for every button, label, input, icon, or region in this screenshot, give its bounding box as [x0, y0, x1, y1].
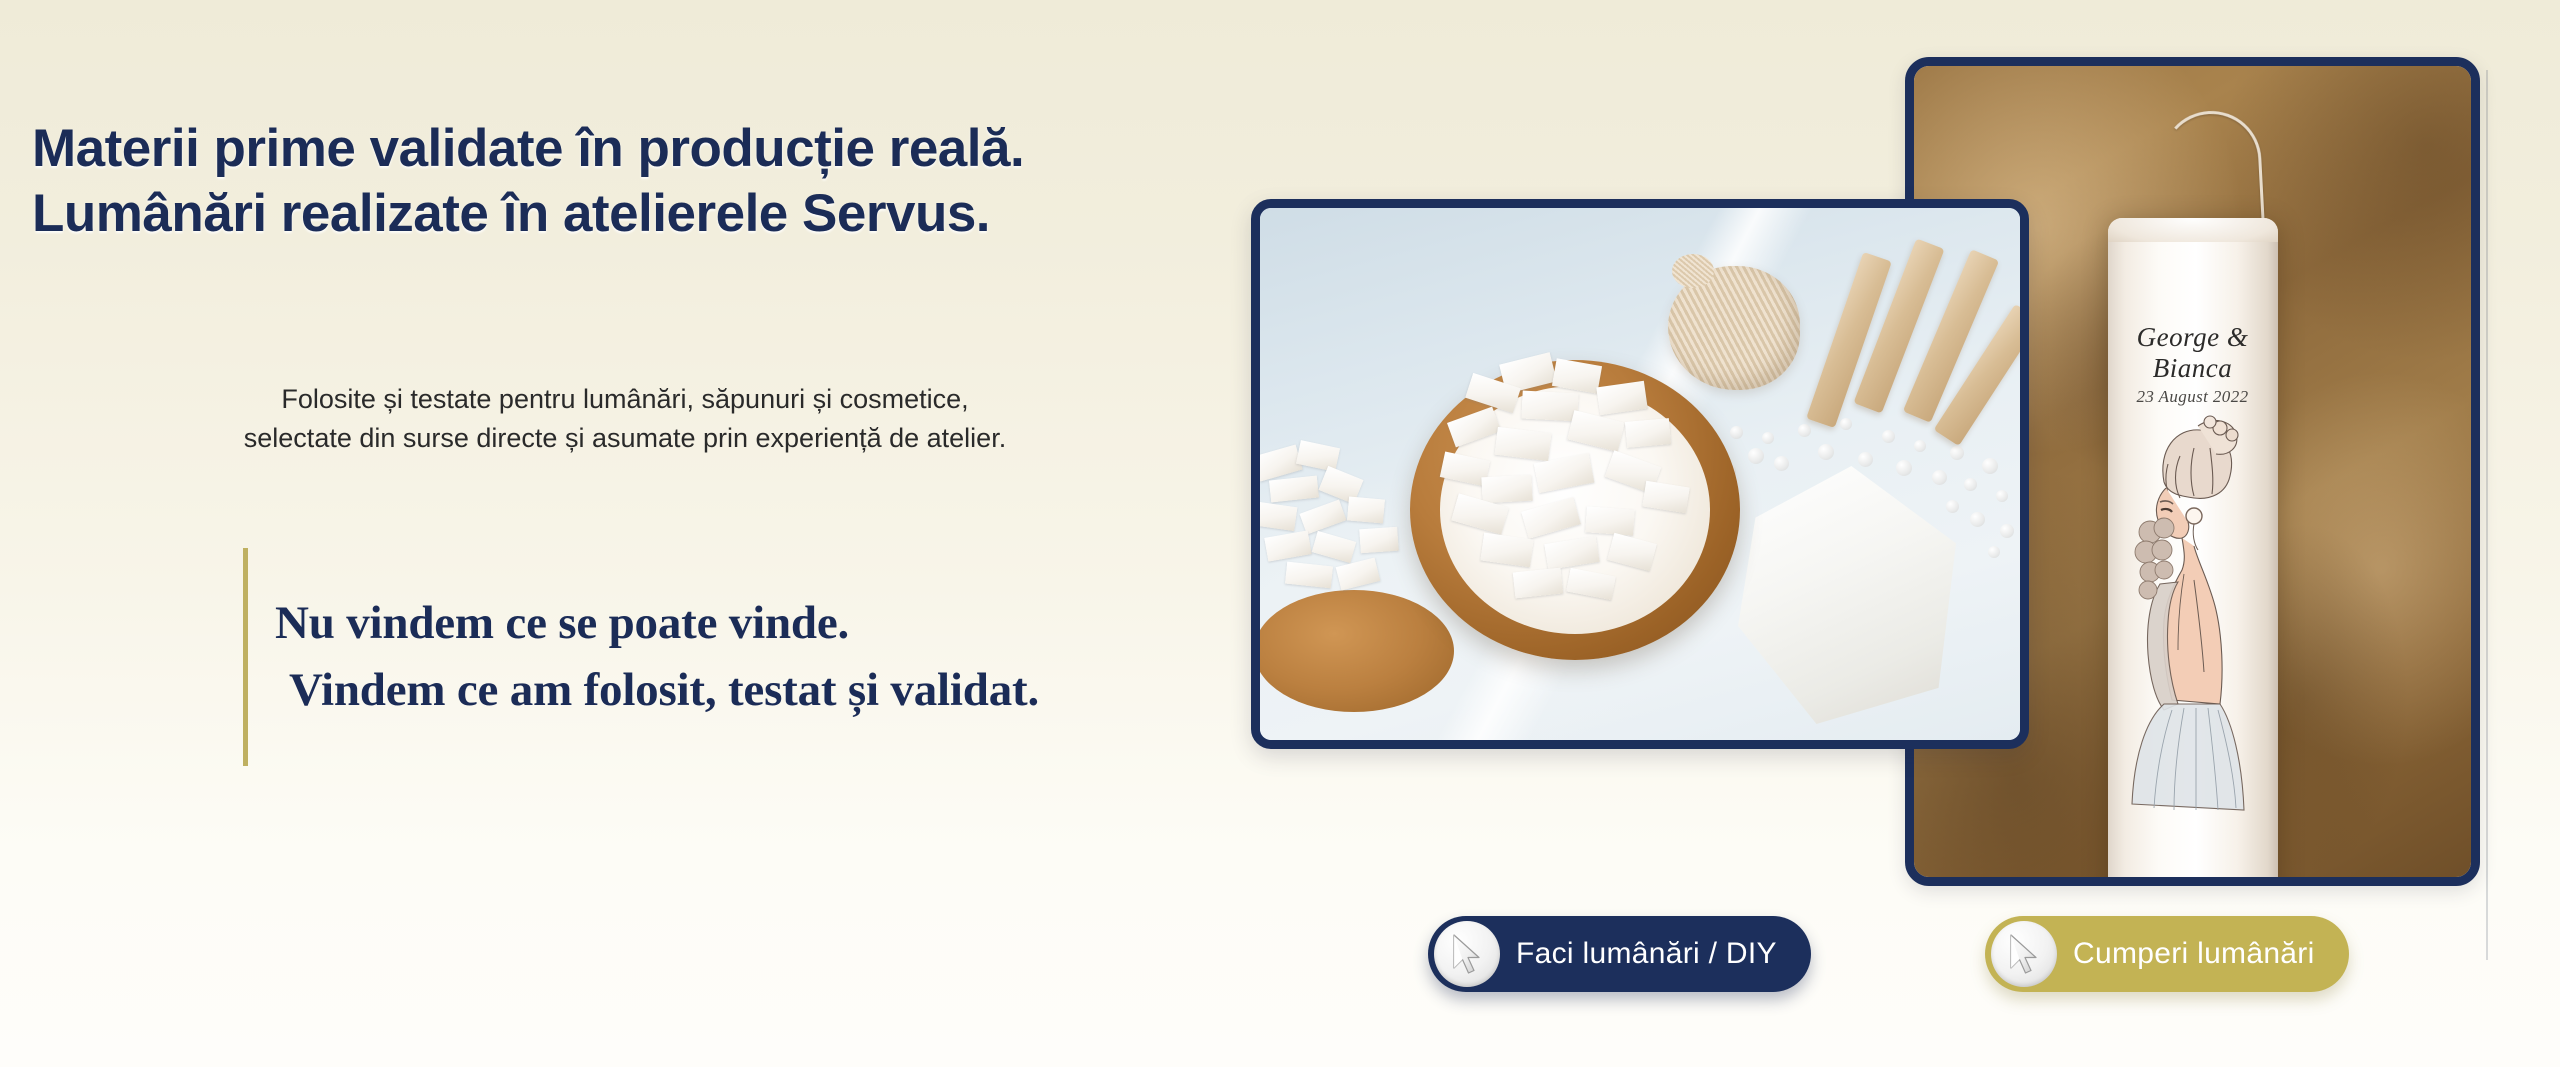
candle-names-line-1: George &: [2108, 323, 2278, 352]
wax-flakes-photo-frame: [1251, 199, 2029, 749]
candle-names-line-2: Bianca: [2108, 354, 2278, 383]
faci-lumanari-diy-button[interactable]: Faci lumânări / DIY: [1428, 916, 1811, 992]
hero-text-column: Materii prime validate în producție real…: [0, 0, 1250, 1067]
hero-subcopy: Folosite și testate pentru lumânări, săp…: [110, 380, 1140, 458]
page-edge-rule: [2486, 70, 2488, 960]
page-title: Materii prime validate în producție real…: [32, 118, 1242, 245]
wax-flake-pile-bowl: [1428, 358, 1728, 626]
cursor-arrow-icon: [1434, 921, 1500, 987]
subcopy-line-1: Folosite și testate pentru lumânări, săp…: [110, 380, 1140, 419]
headline-line-1: Materii prime validate în producție real…: [32, 118, 1242, 179]
bride-illustration-icon: [2124, 404, 2262, 824]
quote-line-1: Nu vindem ce se poate vinde.: [275, 590, 1039, 657]
candle-pillar: George & Bianca 23 August 2022: [2108, 218, 2278, 886]
cursor-arrow-icon: [1991, 921, 2057, 987]
headline-line-2: Lumânări realizate în atelierele Servus.: [32, 183, 1242, 244]
wooden-spoon: [1254, 590, 1454, 712]
brand-quote: Nu vindem ce se poate vinde. Vindem ce a…: [243, 548, 1039, 766]
cumperi-lumanari-label: Cumperi lumânări: [2073, 937, 2315, 971]
candle-personalization-text: George & Bianca 23 August 2022: [2108, 323, 2278, 406]
hero-banner: Materii prime validate în producție real…: [0, 0, 2560, 1067]
subcopy-line-2: selectate din surse directe și asumate p…: [110, 419, 1140, 458]
cotton-wick-yarn-knot: [1672, 254, 1714, 288]
quote-line-2: Vindem ce am folosit, testat și validat.: [275, 657, 1039, 724]
cumperi-lumanari-button[interactable]: Cumperi lumânări: [1985, 916, 2349, 992]
faci-lumanari-diy-label: Faci lumânări / DIY: [1516, 937, 1777, 971]
cta-button-row: Faci lumânări / DIY Cumperi lumânări: [1428, 916, 2428, 1026]
